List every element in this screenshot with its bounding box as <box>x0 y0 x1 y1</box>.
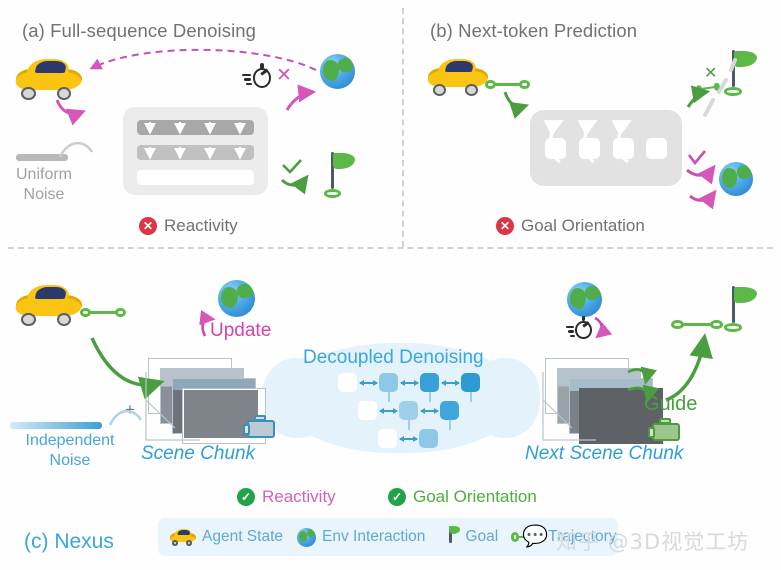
trajectory-icon-b <box>487 78 528 91</box>
arrow-overlay <box>0 0 781 570</box>
uniform-noise-line-2: Noise <box>6 185 82 205</box>
flag-icon <box>312 152 354 200</box>
denoise-arrow-r2-2 <box>421 410 438 412</box>
panel-b-status-label: Goal Orientation <box>521 216 645 236</box>
uniform-noise-label: Uniform Noise <box>6 165 82 204</box>
denoise-row-3 <box>137 170 254 185</box>
update-label: Update <box>210 320 271 342</box>
legend-item-env-interaction: Env Interaction <box>297 528 425 547</box>
check-circle-icon-2: ✓ <box>388 488 406 506</box>
trajectory-icon-c <box>82 306 124 319</box>
cross-circle-icon-b: ✕ <box>496 217 514 235</box>
panel-c-title: (c) Nexus <box>24 530 114 554</box>
figure-root: (a) Full-sequence Denoising ✕ Uniform No… <box>0 0 781 570</box>
denoise-cell-r1c1 <box>338 373 357 392</box>
globe-loop-arrow-b <box>690 193 714 200</box>
flag-icon-legend <box>439 526 459 548</box>
token-cell-1 <box>545 138 566 159</box>
denoise-cell-r2c1 <box>358 401 377 420</box>
car-icon <box>16 57 82 101</box>
denoise-arrow-r1-2 <box>401 382 418 384</box>
blob-tail-right <box>470 358 540 438</box>
block-to-globe-arrow-a <box>287 92 312 110</box>
denoise-vlink-3 <box>470 392 472 402</box>
camera-icon-left <box>243 413 279 443</box>
panel-b-status: ✕ Goal Orientation <box>496 216 645 236</box>
globe-icon <box>320 54 355 89</box>
denoise-arrow-r1-1 <box>360 382 377 384</box>
watermark-text: 知乎 @3D视觉工坊 <box>556 526 749 556</box>
timing-cross-mark: ✕ <box>276 66 292 85</box>
scene-to-goal-arrow-c <box>666 340 704 400</box>
stopwatch-icon-c <box>572 316 595 341</box>
legend-label-env-interaction: Env Interaction <box>322 528 425 546</box>
check-tick-b <box>689 151 705 163</box>
stopwatch-icon <box>249 63 275 91</box>
denoise-vlink-5 <box>449 420 451 430</box>
panel-a-status-label: Reactivity <box>164 216 238 236</box>
cross-circle-icon: ✕ <box>139 217 157 235</box>
panel-c-status-reactivity: ✓ Reactivity <box>237 487 336 507</box>
wechat-icon: 💬 <box>522 524 548 549</box>
legend-label-goal: Goal <box>465 528 498 546</box>
panel-c-status-reactivity-label: Reactivity <box>262 487 336 507</box>
denoise-cell-r3c2 <box>419 429 438 448</box>
block-to-globe-arrow-b <box>687 168 713 175</box>
denoise-arrow-r1-3 <box>442 382 459 384</box>
plus-sign: + <box>125 400 135 420</box>
check-tick-a <box>283 160 301 172</box>
next-scene-chunk-label: Next Scene Chunk <box>525 443 683 465</box>
independent-noise-bar <box>10 422 102 429</box>
block-to-flag-arrow-a <box>282 178 306 185</box>
denoise-arrow-r3-1 <box>400 438 417 440</box>
denoise-vlink-1 <box>388 392 390 402</box>
next-token-block <box>530 110 682 186</box>
scene-chunk-label: Scene Chunk <box>141 443 255 465</box>
uniform-noise-line-1: Uniform <box>6 165 82 185</box>
globe-icon-legend <box>297 528 316 547</box>
globe-icon-b <box>719 162 753 196</box>
denoise-row-1 <box>137 120 254 135</box>
check-circle-icon-1: ✓ <box>237 488 255 506</box>
decoupled-denoising-title: Decoupled Denoising <box>303 347 484 369</box>
miss-cross-mark: ✕ <box>704 65 717 81</box>
panel-a-status: ✕ Reactivity <box>139 216 238 236</box>
legend-label-agent-state: Agent State <box>202 528 283 546</box>
camera-icon-right <box>648 416 684 446</box>
car-icon-c <box>16 283 82 327</box>
timing-arrow-c <box>595 318 602 336</box>
globe-icon-c-left <box>218 280 255 317</box>
globe-icon-c-right <box>567 282 602 317</box>
guide-label: Guide <box>644 393 697 416</box>
independent-noise-label: Independent Noise <box>0 431 140 470</box>
denoise-cell-r2c3 <box>440 401 459 420</box>
token-cell-3 <box>613 138 634 159</box>
denoise-cell-r2c2 <box>399 401 418 420</box>
independent-noise-line-1: Independent <box>0 431 140 451</box>
panel-a-title: (a) Full-sequence Denoising <box>22 20 256 42</box>
denoise-vlink-4 <box>408 420 410 430</box>
full-sequence-denoise-block <box>123 107 268 195</box>
legend-item-agent-state: Agent State <box>170 528 283 546</box>
denoise-vlink-2 <box>429 392 431 402</box>
legend-strip: Agent State Env Interaction Goal Traject… <box>158 518 618 556</box>
car-to-block-arrow-b <box>505 92 525 107</box>
car-icon-b <box>428 57 488 97</box>
legend-item-goal: Goal <box>439 526 498 548</box>
token-cell-2 <box>579 138 600 159</box>
denoise-row-2 <box>137 145 254 160</box>
denoise-cell-r1c4 <box>461 373 480 392</box>
denoise-cell-r1c3 <box>420 373 439 392</box>
denoise-arrow-r2-1 <box>380 410 397 412</box>
token-cell-4 <box>646 138 667 159</box>
car-icon-legend <box>170 528 196 546</box>
panel-c-status-goal: ✓ Goal Orientation <box>388 487 537 507</box>
denoise-cell-r1c2 <box>379 373 398 392</box>
independent-noise-line-2: Noise <box>0 451 140 471</box>
trajectory-icon-goal <box>673 318 721 331</box>
panel-c-status-goal-label: Goal Orientation <box>413 487 537 507</box>
divider-horizontal <box>8 247 773 249</box>
uniform-noise-bar <box>16 154 68 161</box>
car-to-block-arrow-a <box>57 100 82 114</box>
panel-b-title: (b) Next-token Prediction <box>430 20 637 42</box>
divider-vertical <box>402 8 404 247</box>
denoise-cell-r3c1 <box>378 429 397 448</box>
